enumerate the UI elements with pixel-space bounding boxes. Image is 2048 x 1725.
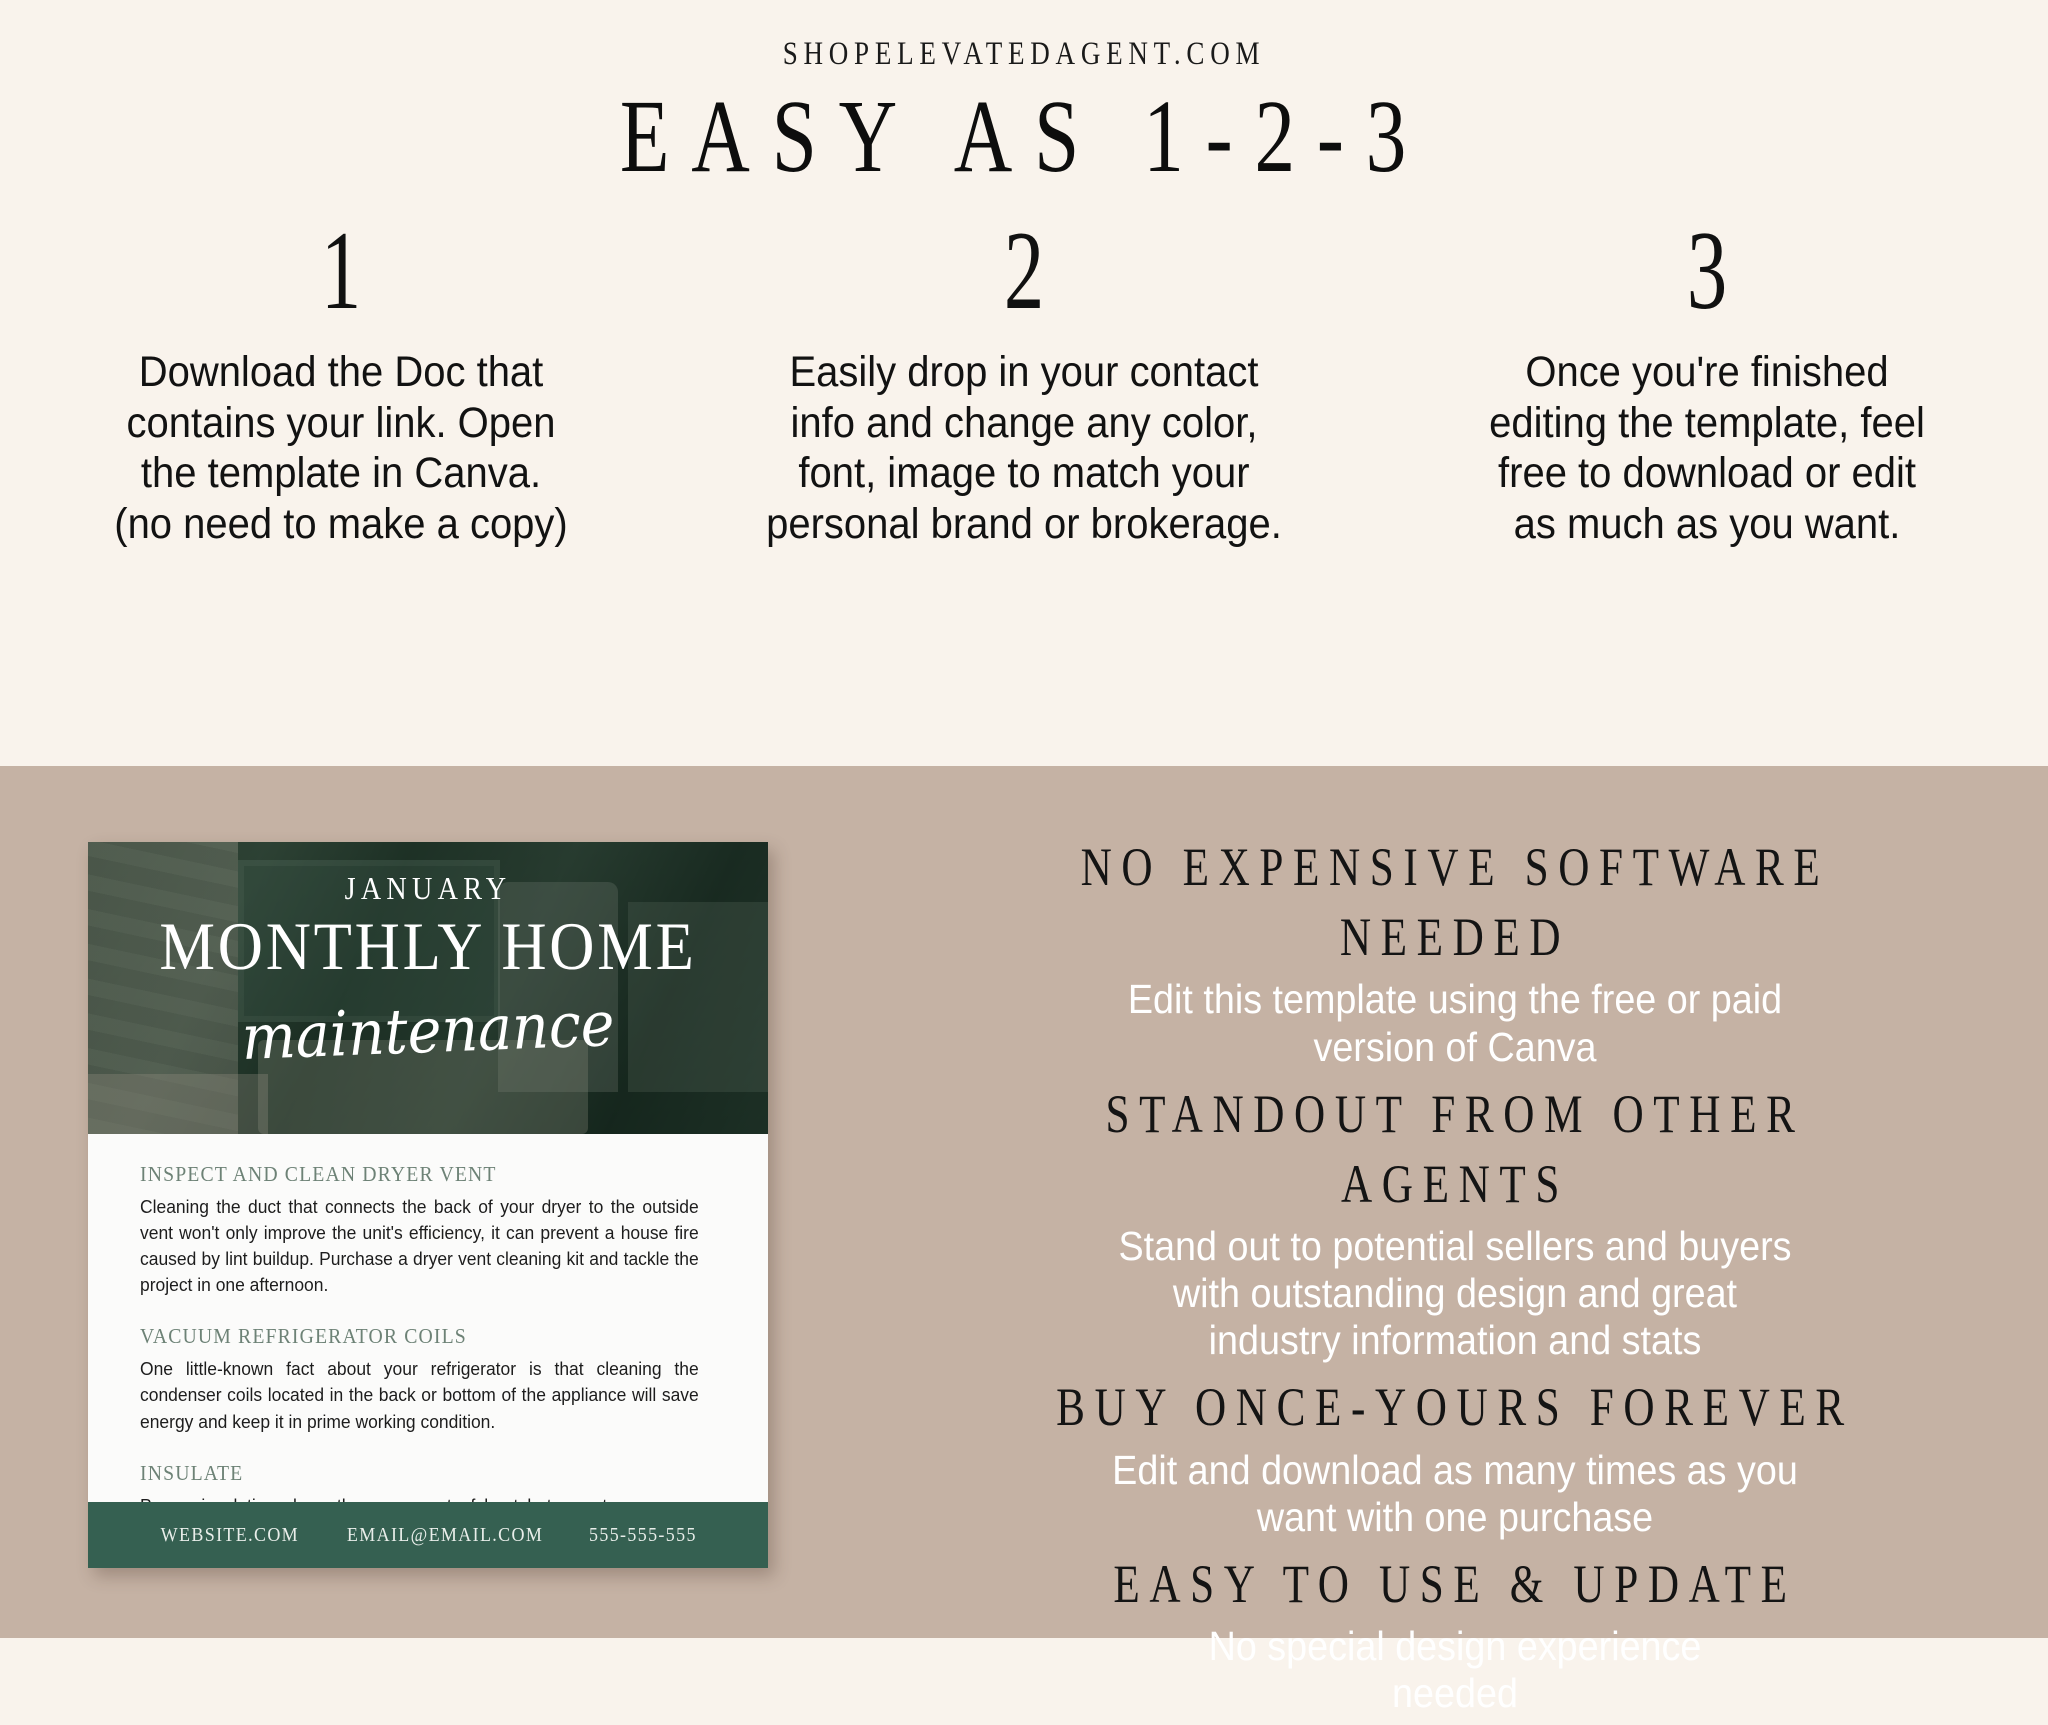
preview-title: MONTHLY HOME: [115, 912, 741, 980]
step-item-2: 2 Easily drop in your contact info and c…: [683, 215, 1366, 550]
preview-body: INSPECT AND CLEAN DRYER VENT Cleaning th…: [88, 1134, 768, 1502]
preview-hero: JANUARY MONTHLY HOME maintenance: [88, 842, 768, 1134]
step-number-3: 3: [1686, 215, 1726, 327]
preview-section-body: Cleaning the duct that connects the back…: [140, 1194, 699, 1298]
feature-item-2: STANDOUT FROM OTHER AGENTS Stand out to …: [880, 1079, 2030, 1365]
preview-section-heading: INSULATE: [140, 1461, 681, 1486]
step-text-1: Download the Doc that contains your link…: [62, 347, 620, 550]
preview-section-body: One little-known fact about your refrige…: [140, 1356, 699, 1434]
step-number-1: 1: [321, 215, 361, 327]
step-text-2: Easily drop in your contact info and cha…: [745, 347, 1303, 550]
feature-item-4: EASY TO USE & UPDATE No special design e…: [880, 1549, 2030, 1717]
preview-section-heading: INSPECT AND CLEAN DRYER VENT: [140, 1162, 681, 1187]
step-number-2: 2: [1004, 215, 1044, 327]
feature-description: Stand out to potential sellers and buyer…: [926, 1223, 1984, 1364]
preview-month: JANUARY: [129, 870, 727, 907]
page-title: EASY AS 1-2-3: [225, 85, 1822, 189]
promo-page: SHOPELEVATEDAGENT.COM EASY AS 1-2-3 1 Do…: [0, 0, 2048, 1638]
template-preview-card: JANUARY MONTHLY HOME maintenance INSPECT…: [88, 842, 768, 1568]
feature-title: STANDOUT FROM OTHER AGENTS: [995, 1079, 1915, 1219]
feature-description: Edit and download as many times as you w…: [926, 1447, 1984, 1541]
preview-footer-email: EMAIL@EMAIL.COM: [347, 1524, 543, 1547]
step-item-1: 1 Download the Doc that contains your li…: [0, 215, 683, 550]
preview-footer-website: WEBSITE.COM: [160, 1524, 298, 1547]
feature-description: Edit this template using the free or pai…: [926, 976, 1984, 1070]
hero-decor-rug: [88, 1074, 268, 1134]
steps-row: 1 Download the Doc that contains your li…: [0, 215, 2048, 550]
feature-item-3: BUY ONCE-YOURS FOREVER Edit and download…: [880, 1372, 2030, 1540]
feature-title: NO EXPENSIVE SOFTWARE NEEDED: [995, 832, 1915, 972]
feature-list: NO EXPENSIVE SOFTWARE NEEDED Edit this t…: [880, 832, 2030, 1725]
feature-title: EASY TO USE & UPDATE: [995, 1549, 1915, 1619]
step-text-3: Once you're finished editing the templat…: [1428, 347, 1986, 550]
preview-footer-phone: 555-555-555: [589, 1524, 697, 1547]
top-section: SHOPELEVATEDAGENT.COM EASY AS 1-2-3 1 Do…: [0, 0, 2048, 766]
feature-description: No special design experience needed: [926, 1623, 1984, 1717]
preview-section-heading: VACUUM REFRIGERATOR COILS: [140, 1324, 681, 1349]
preview-section-2: VACUUM REFRIGERATOR COILS One little-kno…: [140, 1324, 716, 1434]
step-item-3: 3 Once you're finished editing the templ…: [1365, 215, 2048, 550]
feature-title: BUY ONCE-YOURS FOREVER: [995, 1372, 1915, 1442]
site-url: SHOPELEVATEDAGENT.COM: [184, 36, 1863, 73]
feature-item-1: NO EXPENSIVE SOFTWARE NEEDED Edit this t…: [880, 832, 2030, 1071]
preview-section-1: INSPECT AND CLEAN DRYER VENT Cleaning th…: [140, 1162, 716, 1298]
bottom-section: JANUARY MONTHLY HOME maintenance INSPECT…: [0, 766, 2048, 1638]
preview-footer: WEBSITE.COM EMAIL@EMAIL.COM 555-555-555: [88, 1502, 768, 1568]
